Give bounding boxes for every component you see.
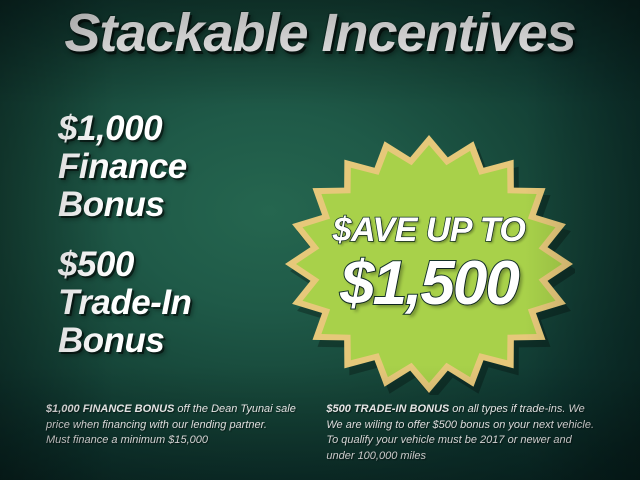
fineprint: $1,000 FINANCE BONUS off the Dean Tyunai…: [0, 402, 640, 464]
offers-list: $1,000 Finance Bonus $500 Trade-In Bonus: [58, 110, 298, 382]
offer-item-trade-in: $500 Trade-In Bonus: [58, 246, 298, 360]
fineprint-line: To qualify your vehicle must be 2017 or …: [326, 433, 594, 449]
fineprint-finance: $1,000 FINANCE BONUS off the Dean Tyunai…: [46, 402, 302, 464]
fineprint-line: Must finance a minimum $15,000: [46, 433, 302, 449]
fineprint-trade-in: $500 TRADE-IN BONUS on all types if trad…: [320, 402, 594, 464]
fineprint-text: off the Dean Tyunai sale: [174, 403, 295, 415]
fineprint-line: price when financing with our lending pa…: [46, 418, 302, 434]
offer-label-line2: Bonus: [58, 322, 298, 360]
starburst-icon: [283, 133, 575, 395]
offer-label-line1: Finance: [58, 148, 298, 186]
fineprint-line: $1,000 FINANCE BONUS off the Dean Tyunai…: [46, 402, 302, 418]
promo-banner: Stackable Incentives $1,000 Finance Bonu…: [0, 0, 640, 480]
fineprint-line: $500 TRADE-IN BONUS on all types if trad…: [326, 402, 594, 418]
offer-item-finance: $1,000 Finance Bonus: [58, 110, 298, 224]
savings-starburst-badge: $AVE UP TO $1,500: [283, 133, 575, 395]
fineprint-line: under 100,000 miles: [326, 449, 594, 465]
fineprint-text: on all types if trade-ins. We: [449, 403, 585, 415]
fineprint-lead: $1,000 FINANCE BONUS: [46, 403, 174, 415]
fineprint-line: We are wiling to offer $500 bonus on you…: [326, 418, 594, 434]
page-title: Stackable Incentives: [0, 4, 640, 62]
fineprint-lead: $500 TRADE-IN BONUS: [326, 403, 449, 415]
offer-label-line1: Trade-In: [58, 284, 298, 322]
offer-amount: $1,000: [58, 110, 298, 148]
offer-label-line2: Bonus: [58, 186, 298, 224]
offer-amount: $500: [58, 246, 298, 284]
